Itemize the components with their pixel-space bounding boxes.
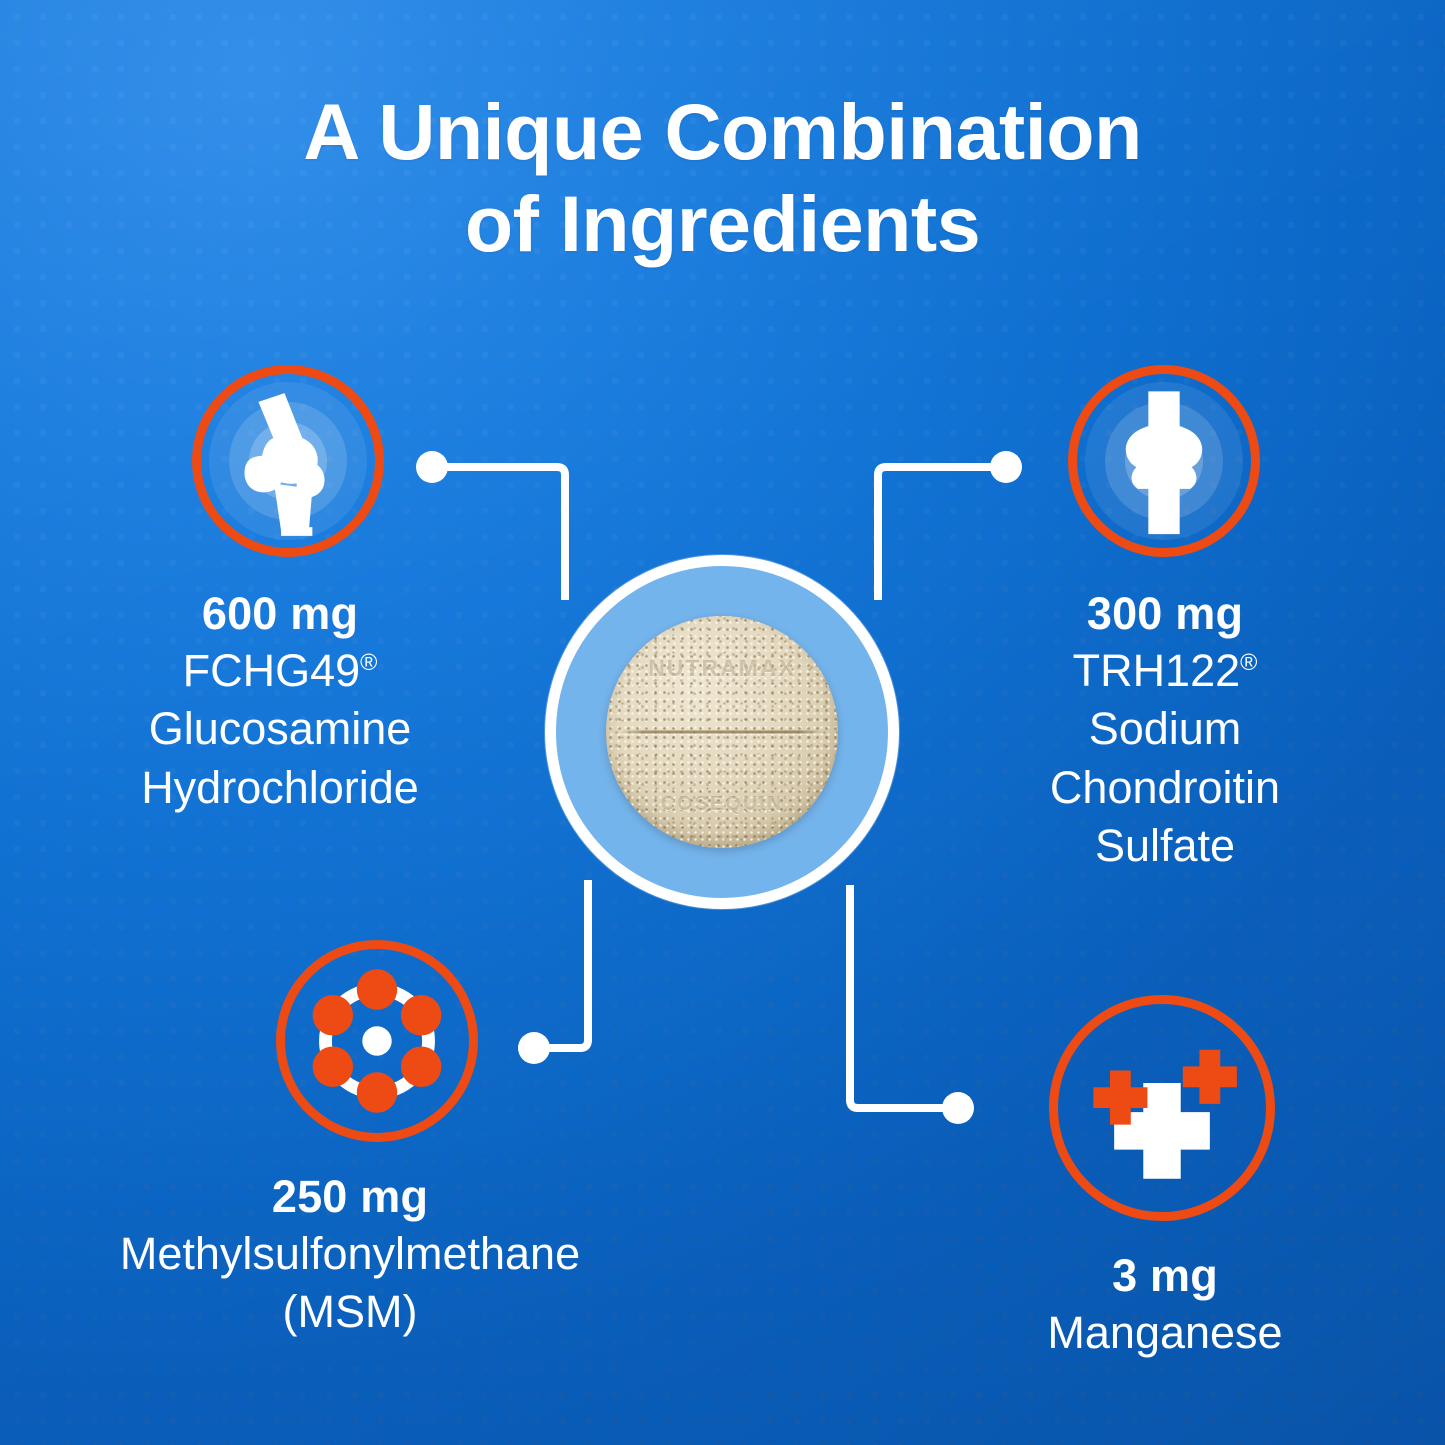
glucosamine-name: FCHG49® Glucosamine Hydrochloride xyxy=(0,642,560,818)
manganese-labels: 3 mg Manganese xyxy=(885,1249,1445,1362)
center-tablet-circle: NUTRAMAX COSEQUIN xyxy=(545,555,899,909)
glucosamine-name-line-1: FCHG49 xyxy=(183,645,361,696)
chondroitin-name-line-3: Chondroitin xyxy=(1050,762,1280,813)
msm-amount: 250 mg xyxy=(0,1170,700,1225)
manganese-name: Manganese xyxy=(885,1304,1445,1363)
ingredient-glucosamine[interactable]: 600 mg FCHG49® Glucosamine Hydrochloride xyxy=(0,365,560,817)
chondroitin-name-line-2: Sodium xyxy=(1089,703,1242,754)
molecule-icon-ring xyxy=(276,940,478,1142)
chondroitin-labels: 300 mg TRH122® Sodium Chondroitin Sulfat… xyxy=(885,587,1445,876)
ingredient-chondroitin[interactable]: 300 mg TRH122® Sodium Chondroitin Sulfat… xyxy=(885,365,1445,876)
bent-knee-joint-icon-ring xyxy=(192,365,384,557)
glucosamine-labels: 600 mg FCHG49® Glucosamine Hydrochloride xyxy=(0,587,560,817)
msm-labels: 250 mg Methylsulfonylmethane (MSM) xyxy=(0,1170,700,1342)
bent-knee-joint-icon xyxy=(201,374,375,548)
tablet-emboss-bottom: COSEQUIN xyxy=(606,793,838,816)
medical-cross-icon-ring xyxy=(1049,995,1275,1221)
tablet-score-line xyxy=(620,731,824,734)
glucosamine-amount: 600 mg xyxy=(0,587,560,642)
glucosamine-name-line-2: Glucosamine xyxy=(149,703,412,754)
manganese-amount: 3 mg xyxy=(885,1249,1445,1304)
tablet-emboss-top: NUTRAMAX xyxy=(606,655,838,682)
registered-trademark-icon: ® xyxy=(1240,649,1257,675)
manganese-name-line-1: Manganese xyxy=(1047,1307,1282,1358)
medical-cross-icon xyxy=(1058,1004,1266,1212)
registered-trademark-icon: ® xyxy=(360,649,377,675)
ingredient-manganese[interactable]: 3 mg Manganese xyxy=(885,995,1445,1362)
msm-name: Methylsulfonylmethane (MSM) xyxy=(0,1225,700,1342)
chondroitin-name-line-4: Sulfate xyxy=(1095,820,1235,871)
chondroitin-amount: 300 mg xyxy=(885,587,1445,642)
chondroitin-name-line-1: TRH122 xyxy=(1073,645,1241,696)
chondroitin-name: TRH122® Sodium Chondroitin Sulfate xyxy=(885,642,1445,876)
msm-name-line-2: (MSM) xyxy=(283,1286,418,1337)
molecule-icon xyxy=(285,949,469,1133)
straight-bone-joint-icon xyxy=(1077,374,1251,548)
msm-name-line-1: Methylsulfonylmethane xyxy=(120,1228,580,1279)
tablet-pill: NUTRAMAX COSEQUIN xyxy=(606,616,838,848)
ingredient-msm[interactable]: 250 mg Methylsulfonylmethane (MSM) xyxy=(0,940,700,1342)
glucosamine-name-line-3: Hydrochloride xyxy=(141,762,419,813)
straight-bone-joint-icon-ring xyxy=(1068,365,1260,557)
